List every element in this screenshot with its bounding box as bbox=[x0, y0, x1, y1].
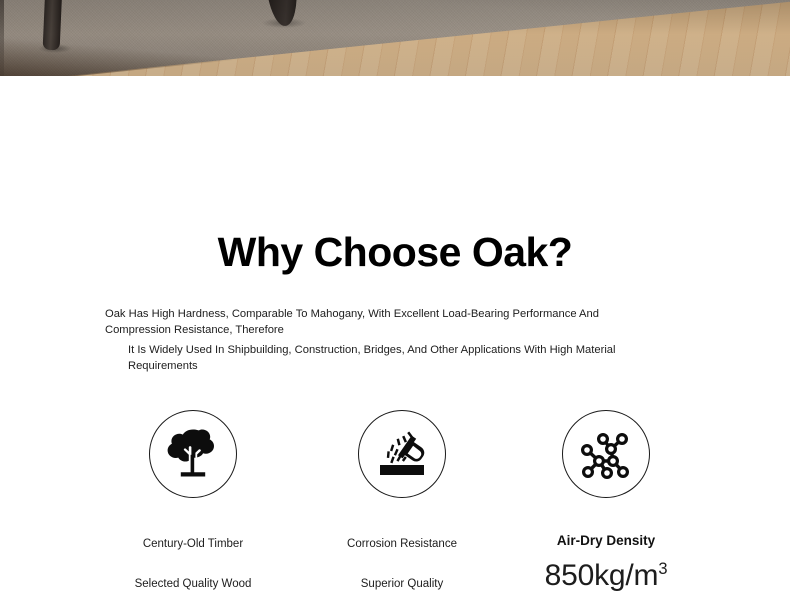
tree-icon-circle bbox=[149, 410, 237, 498]
tree-icon bbox=[162, 423, 224, 485]
feature-row: Century-Old Timber Selected Quality Wood bbox=[0, 410, 790, 610]
corrosive-icon bbox=[371, 423, 433, 485]
density-number: 850kg/m bbox=[545, 559, 659, 592]
intro-paragraph-1: Oak Has High Hardness, Comparable To Mah… bbox=[105, 307, 645, 338]
page-title: Why Choose Oak? bbox=[0, 228, 790, 276]
molecule-icon bbox=[576, 424, 636, 484]
feature-title: Century-Old Timber bbox=[88, 536, 298, 552]
hero-vignette bbox=[0, 0, 790, 76]
density-exponent: 3 bbox=[658, 560, 667, 578]
feature-subtitle: Superior Quality bbox=[297, 576, 507, 592]
hero-left-edge bbox=[0, 0, 4, 76]
corrosive-icon-circle bbox=[358, 410, 446, 498]
density-value: 850kg/m3 bbox=[501, 558, 711, 594]
product-detail-page: Why Choose Oak? Oak Has High Hardness, C… bbox=[0, 0, 790, 547]
feature-item-density: Air-Dry Density 850kg/m3 bbox=[501, 410, 711, 594]
hero-photo bbox=[0, 0, 790, 76]
molecule-icon-circle bbox=[562, 410, 650, 498]
feature-subtitle: Selected Quality Wood bbox=[88, 576, 298, 592]
feature-item-timber: Century-Old Timber Selected Quality Wood bbox=[88, 410, 298, 592]
feature-title: Corrosion Resistance bbox=[297, 536, 507, 552]
intro-paragraph-2: It Is Widely Used In Shipbuilding, Const… bbox=[128, 343, 648, 374]
feature-item-corrosion: Corrosion Resistance Superior Quality bbox=[297, 410, 507, 592]
